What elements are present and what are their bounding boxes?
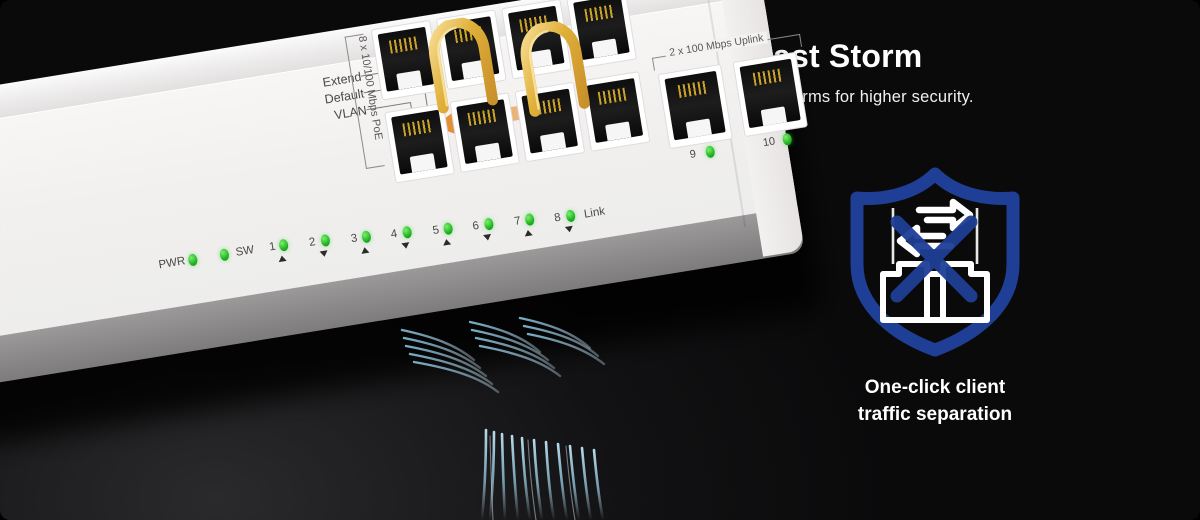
rj45-pins	[753, 69, 783, 86]
rj45-jack	[391, 110, 448, 175]
port-marker-down-2	[320, 250, 329, 257]
port-marker-down-6	[483, 234, 492, 241]
rj45-jack	[740, 59, 801, 129]
uplink-port-slot[interactable]	[659, 65, 732, 148]
feature-callout: One-click client traffic separation	[820, 160, 1050, 428]
promo-banner: Port Isolation to Prevent Broadcast Stor…	[0, 0, 1200, 520]
port-led-4	[402, 226, 413, 239]
port-marker-up-5	[442, 238, 451, 245]
pwr-led	[187, 253, 198, 266]
sw-led	[219, 248, 230, 261]
uplink-port-slot[interactable]	[734, 53, 807, 136]
rj45-pins	[584, 5, 614, 22]
port-marker-down-8	[565, 226, 574, 233]
port-marker-up-1	[278, 255, 287, 262]
port-number-6: 6	[472, 220, 480, 233]
feature-caption-line-2: traffic separation	[820, 401, 1050, 428]
pwr-label: PWR	[158, 255, 186, 271]
port-number-8: 8	[553, 212, 561, 225]
network-switch-device: WKING Simplifying CCTV Network WK-PS210 …	[0, 0, 845, 520]
port-number-1: 1	[268, 241, 276, 254]
rj45-pins	[389, 36, 419, 53]
port-number-7: 7	[513, 215, 521, 228]
port-led-7	[524, 213, 535, 226]
feature-caption-line-1: One-click client	[820, 374, 1050, 401]
port-number-4: 4	[390, 228, 398, 241]
gold-cable-loop	[511, 17, 595, 123]
port-marker-down-4	[401, 242, 410, 249]
uplink-port-number: 10	[762, 135, 776, 149]
feature-caption: One-click client traffic separation	[820, 374, 1050, 428]
port-led-6	[483, 217, 494, 230]
rj45-jack	[664, 71, 725, 141]
port-number-2: 2	[308, 236, 316, 249]
uplink-port-led	[782, 133, 793, 146]
rj45-pins	[598, 88, 628, 105]
port-number-5: 5	[432, 224, 440, 237]
link-label: Link	[583, 205, 606, 220]
uplink-port-number: 9	[689, 148, 697, 161]
port-led-1	[278, 239, 289, 252]
port-led-2	[320, 234, 331, 247]
rj45-pins	[402, 119, 432, 136]
port-led-3	[361, 230, 372, 243]
port-marker-up-3	[361, 247, 370, 254]
uplink-port-led	[705, 145, 716, 158]
port-number-3: 3	[350, 232, 358, 245]
port-marker-up-7	[524, 229, 533, 236]
port-led-8	[565, 209, 576, 222]
gold-cable-loop	[420, 13, 504, 119]
rj45-pins	[678, 81, 708, 98]
port-led-5	[443, 222, 454, 235]
shield-isolation-icon	[835, 160, 1035, 360]
sw-label: SW	[235, 244, 255, 259]
